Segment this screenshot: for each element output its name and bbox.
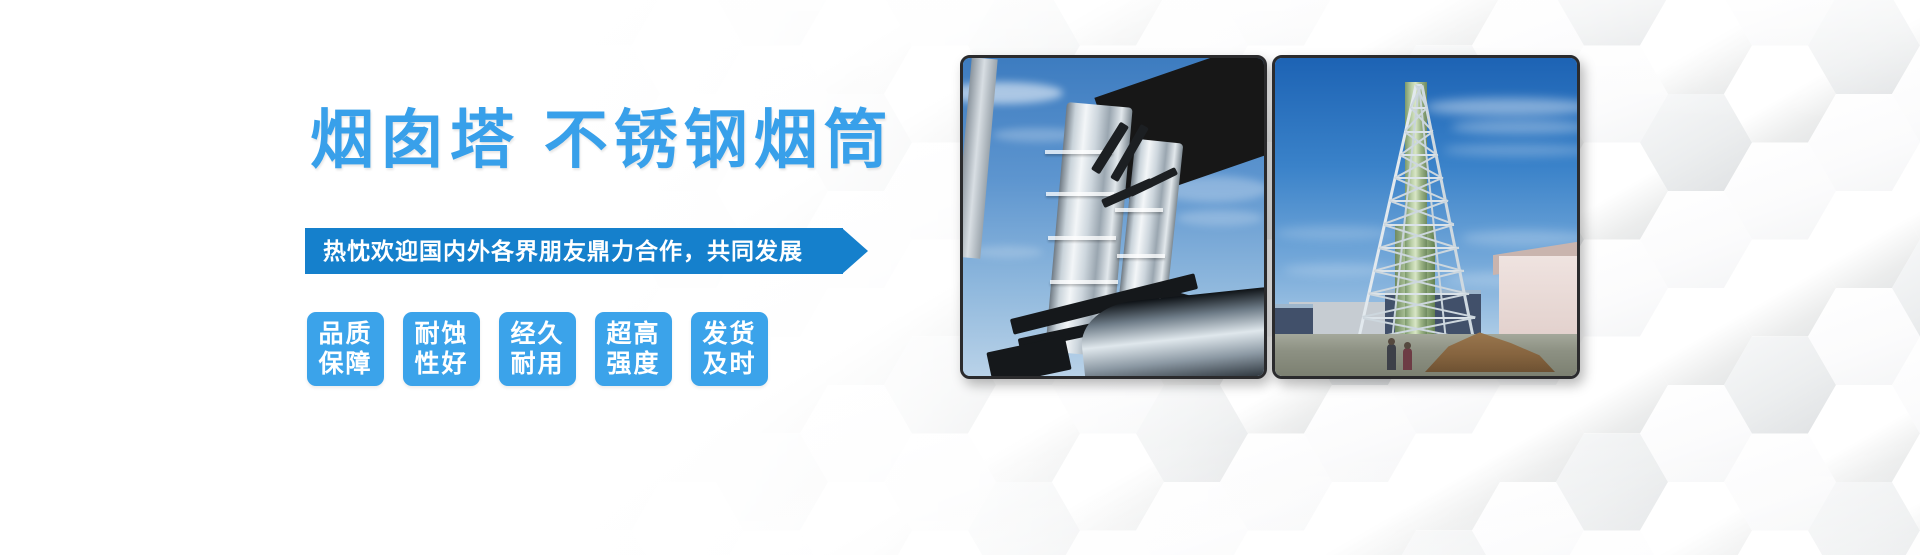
feature-badge[interactable]: 品质保障 (307, 312, 384, 386)
tower-member (1368, 293, 1475, 318)
tower-member (1405, 131, 1432, 133)
ribbon-arrow-icon (842, 228, 868, 274)
feature-badge-line-2: 保障 (318, 349, 372, 379)
promo-banner: 烟囱塔 不锈钢烟筒 热忱欢迎国内外各界朋友鼎力合作，共同发展 品质保障耐蚀性好经… (0, 0, 1920, 555)
tower-member (1374, 270, 1470, 295)
feature-badge-line-2: 强度 (606, 349, 660, 379)
person-figure (1387, 344, 1396, 370)
feature-badge[interactable]: 经久耐用 (499, 312, 576, 386)
feature-badge-line-2: 及时 (702, 349, 756, 379)
subtitle-ribbon: 热忱欢迎国内外各界朋友鼎力合作，共同发展 (305, 228, 843, 274)
photo-stainless-chimney (963, 58, 1264, 376)
stack-ring (1048, 236, 1116, 240)
tower-member (1384, 224, 1453, 226)
feature-badge-line-2: 性好 (414, 349, 468, 379)
person-figure (1403, 348, 1412, 370)
tower-member (1363, 317, 1474, 319)
photo-card-stainless-chimney[interactable] (960, 55, 1267, 379)
page-title: 烟囱塔 不锈钢烟筒 (310, 108, 894, 172)
lattice-tower-structure (1275, 58, 1577, 376)
tower-member (1379, 247, 1459, 249)
feature-badge-line-2: 耐用 (510, 349, 564, 379)
feature-badge-line-1: 品质 (318, 319, 372, 349)
feature-badge-line-1: 超高 (606, 319, 660, 349)
cloud-shape (1177, 210, 1263, 226)
subtitle-ribbon-body: 热忱欢迎国内外各界朋友鼎力合作，共同发展 (305, 228, 843, 274)
feature-badge-line-1: 耐蚀 (414, 319, 468, 349)
photo-card-lattice-tower[interactable] (1272, 55, 1580, 379)
tower-member (1374, 270, 1464, 272)
tower-member (1384, 200, 1449, 225)
tower-member (1389, 177, 1443, 202)
banner-text-column: 烟囱塔 不锈钢烟筒 热忱欢迎国内外各界朋友鼎力合作，共同发展 品质保障耐蚀性好经… (0, 0, 950, 555)
cloud-shape (973, 246, 1043, 258)
feature-badge[interactable]: 超高强度 (595, 312, 672, 386)
photo-lattice-tower (1275, 58, 1577, 376)
stack-ring (1115, 208, 1163, 212)
feature-badge[interactable]: 耐蚀性好 (403, 312, 480, 386)
feature-badge-list: 品质保障耐蚀性好经久耐用超高强度发货及时 (307, 312, 768, 386)
stack-ring (1050, 280, 1118, 284)
stack-ring (1046, 192, 1114, 196)
tower-member (1363, 293, 1470, 318)
feature-badge[interactable]: 发货及时 (691, 312, 768, 386)
subtitle-text: 热忱欢迎国内外各界朋友鼎力合作，共同发展 (323, 228, 803, 274)
feature-badge-line-1: 经久 (510, 319, 564, 349)
feature-badge-line-1: 发货 (702, 319, 756, 349)
stack-ring (1117, 254, 1165, 258)
tower-member (1400, 154, 1438, 156)
